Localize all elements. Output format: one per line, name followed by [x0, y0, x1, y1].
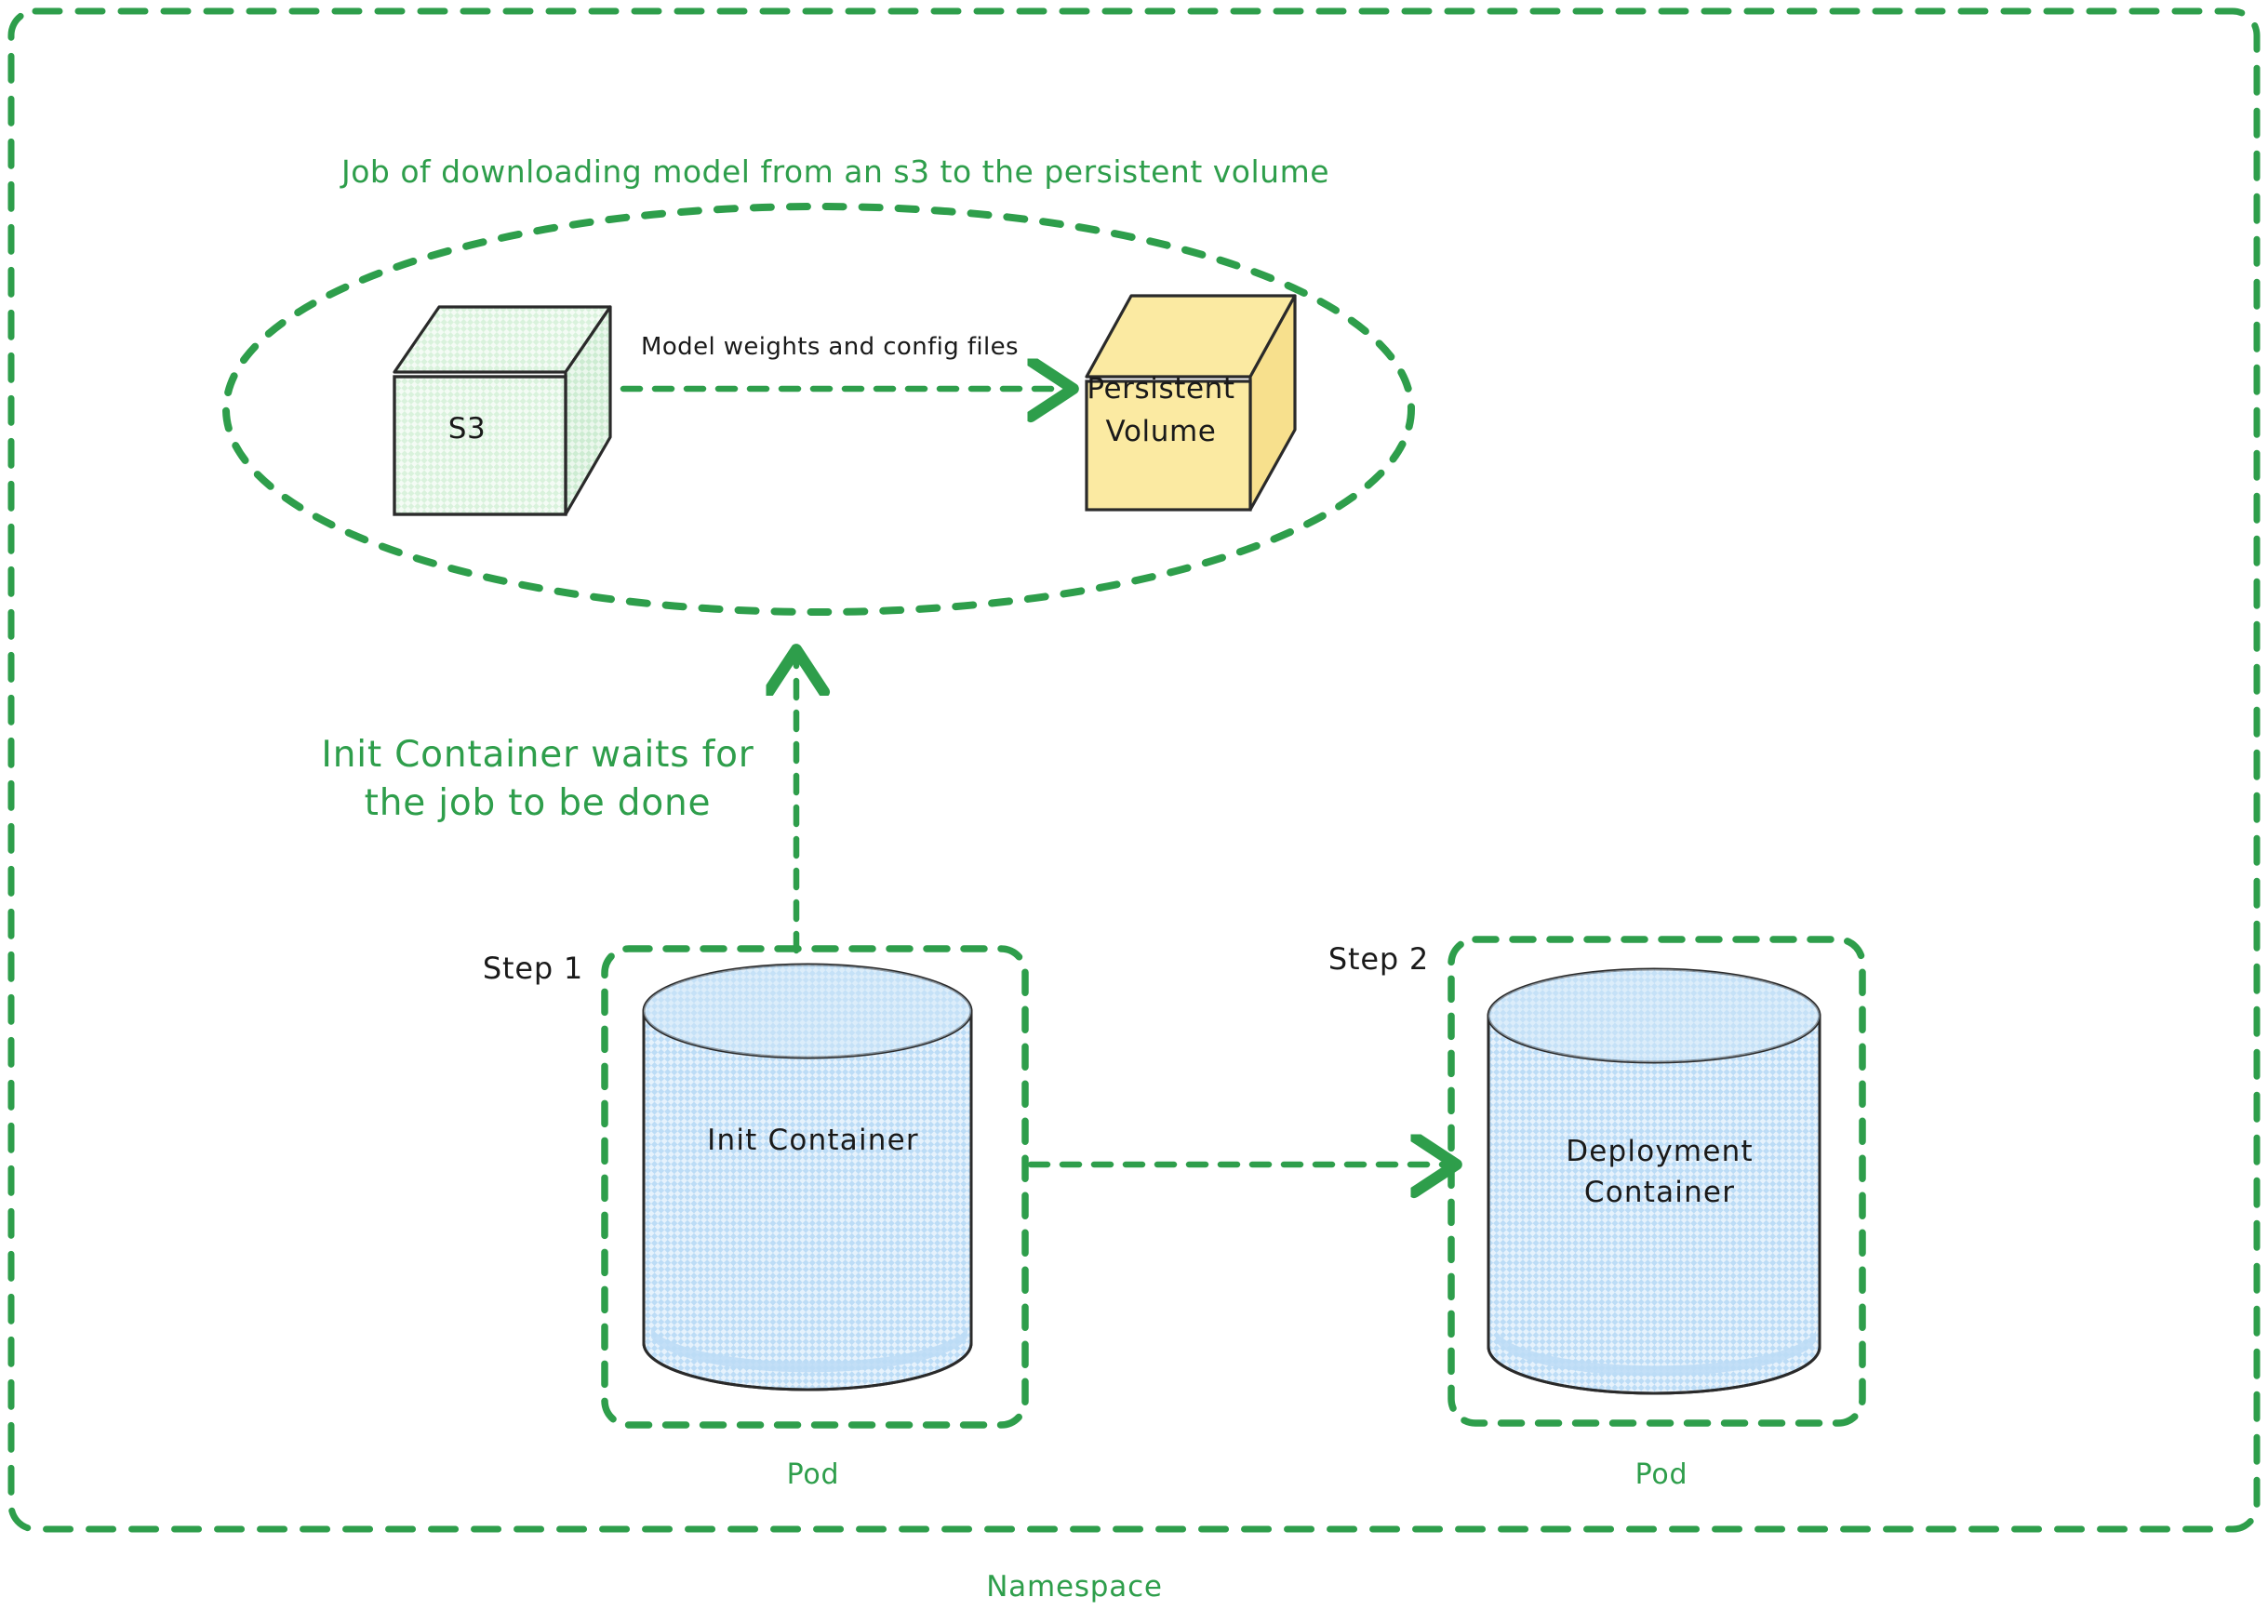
deployment-container-cylinder: [1488, 969, 1820, 1393]
persistent-volume-cube: [1087, 296, 1295, 510]
init-container-cylinder: [644, 965, 971, 1390]
s3-cube: [394, 307, 610, 514]
diagram-svg: [0, 0, 2268, 1624]
diagram-canvas: Job of downloading model from an s3 to t…: [0, 0, 2268, 1624]
